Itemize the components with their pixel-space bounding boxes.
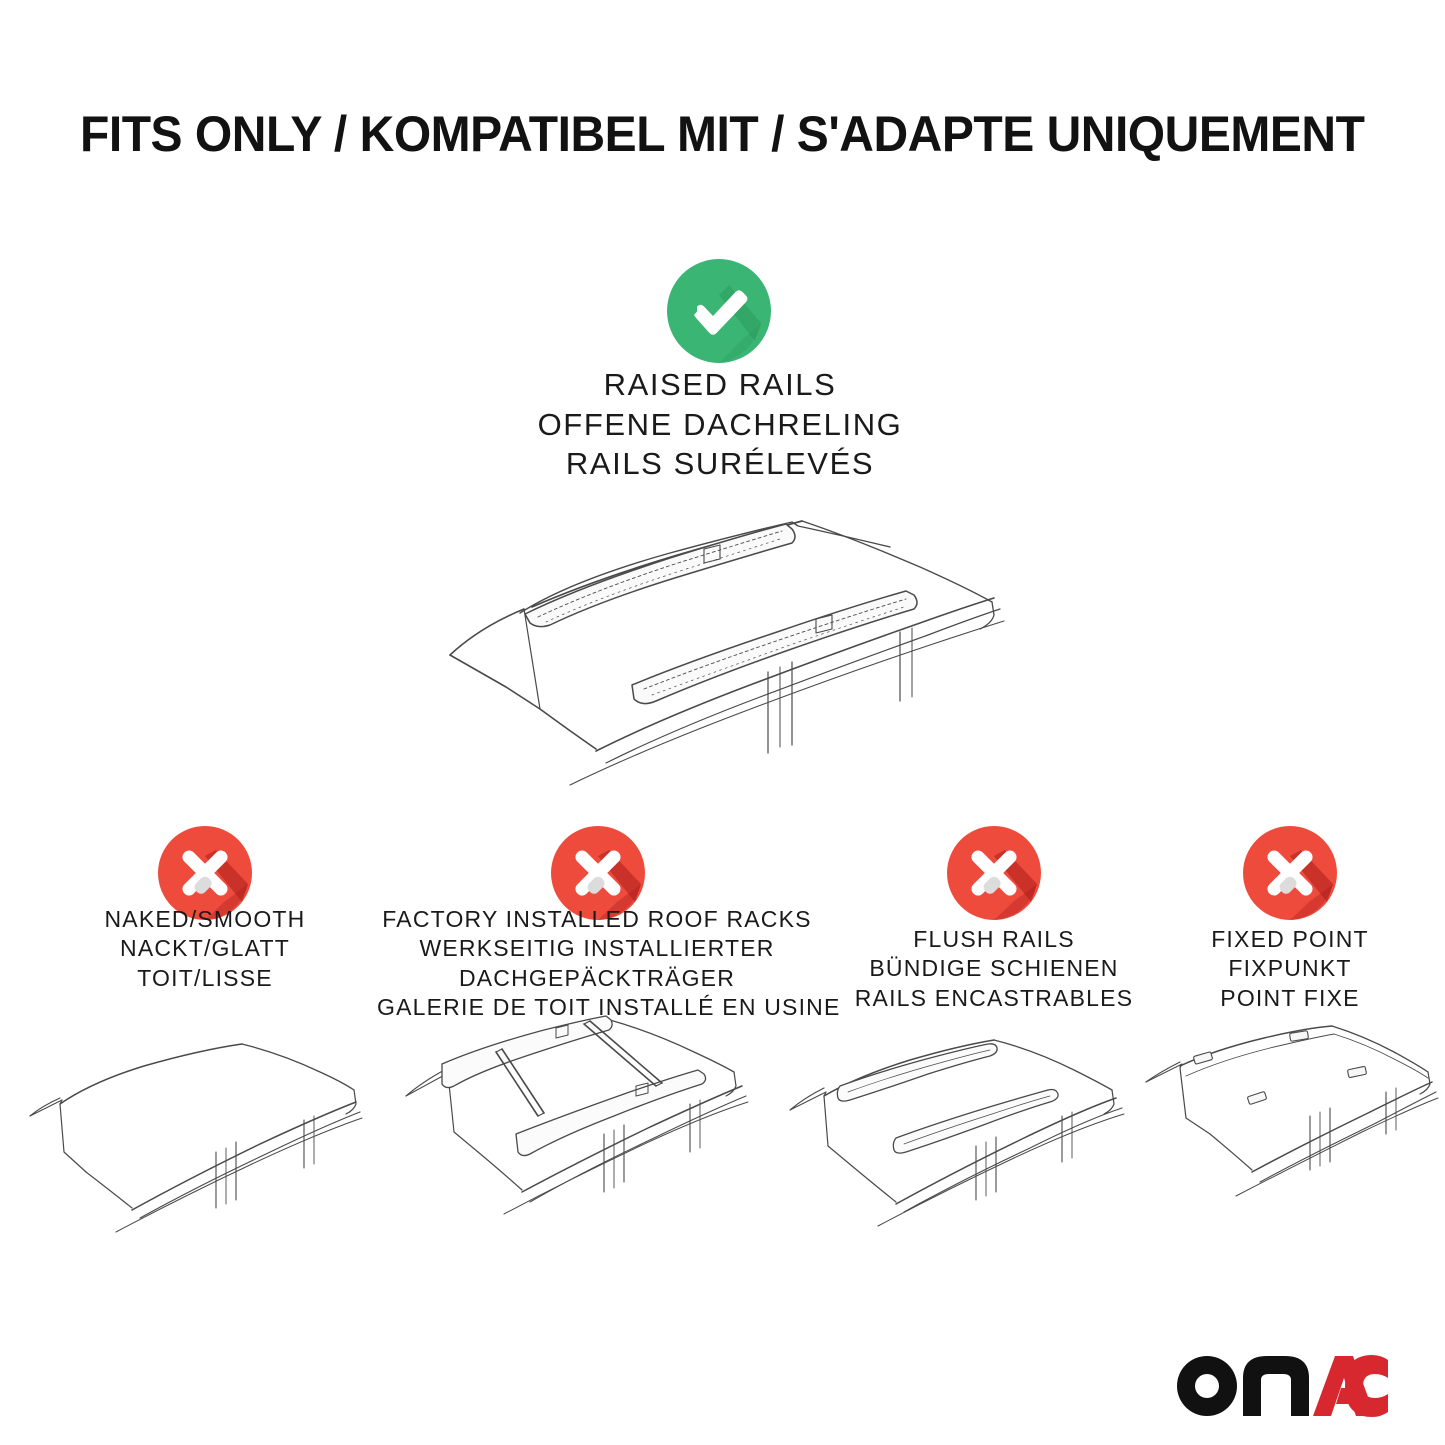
flush-rails-caption: FLUSH RAILS BÜNDIGE SCHIENEN RAILS ENCAS… xyxy=(844,925,1144,1013)
naked-smooth-line-1: NAKED/SMOOTH xyxy=(35,905,375,934)
page-title: FITS ONLY / KOMPATIBEL MIT / S'ADAPTE UN… xyxy=(80,105,1328,163)
cross-circle-icon xyxy=(1239,822,1341,924)
car-roof-fixed-point-illustration xyxy=(1140,1020,1440,1240)
fixed-point-line-3: POINT FIXE xyxy=(1150,984,1430,1013)
omac-logo xyxy=(1173,1352,1388,1422)
compatible-caption: RAISED RAILS OFFENE DACHRELING RAILS SUR… xyxy=(345,365,1095,484)
flush-rails-line-3: RAILS ENCASTRABLES xyxy=(844,984,1144,1013)
compatibility-infographic: FITS ONLY / KOMPATIBEL MIT / S'ADAPTE UN… xyxy=(0,0,1445,1445)
naked-smooth-line-2: NACKT/GLATT xyxy=(35,934,375,963)
check-circle-icon xyxy=(663,255,775,367)
flush-rails-line-2: BÜNDIGE SCHIENEN xyxy=(844,954,1144,983)
compatible-line-3: RAILS SURÉLEVÉS xyxy=(345,444,1095,484)
naked-smooth-caption: NAKED/SMOOTH NACKT/GLATT TOIT/LISSE xyxy=(35,905,375,993)
factory-racks-caption: FACTORY INSTALLED ROOF RACKS WERKSEITIG … xyxy=(377,905,817,1023)
compatible-line-2: OFFENE DACHRELING xyxy=(345,405,1095,445)
car-roof-flush-rails-illustration xyxy=(778,1020,1138,1240)
car-roof-naked-smooth-illustration xyxy=(20,1020,370,1240)
car-roof-raised-rails-illustration xyxy=(420,495,1020,795)
fixed-point-line-2: FIXPUNKT xyxy=(1150,954,1430,983)
fixed-point-caption: FIXED POINT FIXPUNKT POINT FIXE xyxy=(1150,925,1430,1013)
factory-racks-line-1: FACTORY INSTALLED ROOF RACKS xyxy=(377,905,817,934)
naked-smooth-line-3: TOIT/LISSE xyxy=(35,964,375,993)
fixed-point-line-1: FIXED POINT xyxy=(1150,925,1430,954)
compatible-line-1: RAISED RAILS xyxy=(345,365,1095,405)
flush-rails-line-1: FLUSH RAILS xyxy=(844,925,1144,954)
car-roof-factory-racks-illustration xyxy=(398,1012,758,1242)
factory-racks-line-2: WERKSEITIG INSTALLIERTER xyxy=(377,934,817,963)
factory-racks-line-3: DACHGEPÄCKTRÄGER xyxy=(377,964,817,993)
cross-circle-icon xyxy=(943,822,1045,924)
